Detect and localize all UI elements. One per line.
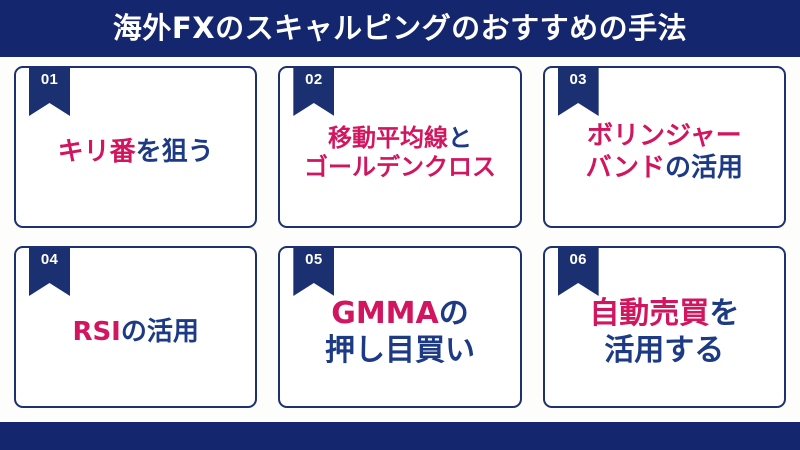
label-suffix: 活用する (604, 333, 724, 368)
label-suffix: の活用 (665, 153, 743, 183)
label-keyword: 移動平均線 (328, 124, 448, 152)
card-grid: 01キリ番を狙う02移動平均線とゴールデンクロス03ボリンジャーバンドの活用04… (14, 66, 786, 409)
card-number: 05 (305, 252, 322, 267)
card-label-line: GMMAの (325, 296, 475, 333)
ribbon-banner-icon: 06 (558, 246, 599, 296)
card-label: 移動平均線とゴールデンクロス (294, 124, 506, 183)
card-number: 01 (41, 72, 58, 87)
card-label: ボリンジャーバンドの活用 (576, 121, 753, 184)
label-suffix: を狙う (136, 137, 214, 167)
method-card[interactable]: 03ボリンジャーバンドの活用 (543, 66, 786, 228)
card-label-line: 押し目買い (325, 333, 475, 370)
card-number: 06 (570, 252, 587, 267)
card-label-line: RSIの活用 (72, 317, 198, 349)
ribbon-banner-icon: 05 (293, 246, 334, 296)
card-label-line: ボリンジャー (586, 121, 743, 153)
card-number: 04 (41, 252, 58, 267)
label-suffix: を (709, 296, 739, 331)
infographic-page: 海外FXのスキャルピングのおすすめの手法 01キリ番を狙う02移動平均線とゴール… (0, 0, 800, 450)
label-suffix: の (439, 296, 469, 331)
card-label: GMMAの押し目買い (315, 296, 485, 369)
label-keyword: ゴールデンクロス (304, 153, 496, 181)
card-number: 03 (570, 72, 587, 87)
card-label: キリ番を狙う (48, 137, 224, 169)
card-label-line: ゴールデンクロス (304, 153, 496, 182)
card-label-line: 移動平均線と (304, 124, 496, 153)
ribbon-banner-icon: 03 (558, 66, 599, 116)
footer-bar (0, 422, 800, 450)
label-suffix: 押し目買い (325, 333, 475, 368)
method-card[interactable]: 01キリ番を狙う (14, 66, 257, 228)
ribbon-banner-icon: 01 (29, 66, 70, 116)
method-card[interactable]: 05GMMAの押し目買い (278, 246, 521, 408)
label-keyword: GMMA (331, 296, 439, 331)
label-keyword: RSI (72, 317, 120, 347)
card-label-line: バンドの活用 (586, 153, 743, 185)
card-label-line: 自動売買を (589, 296, 739, 333)
label-keyword: バンド (586, 153, 665, 183)
label-keyword: 自動売買 (589, 296, 709, 331)
label-keyword: ボリンジャー (587, 121, 742, 151)
method-card[interactable]: 04RSIの活用 (14, 246, 257, 408)
page-title: 海外FXのスキャルピングのおすすめの手法 (113, 14, 687, 43)
card-number: 02 (305, 72, 322, 87)
label-suffix: と (448, 124, 472, 152)
label-keyword: キリ番 (58, 137, 136, 167)
ribbon-banner-icon: 04 (29, 246, 70, 296)
method-card[interactable]: 06自動売買を活用する (543, 246, 786, 408)
method-card[interactable]: 02移動平均線とゴールデンクロス (278, 66, 521, 228)
header-bar: 海外FXのスキャルピングのおすすめの手法 (0, 0, 800, 57)
card-label-line: キリ番を狙う (58, 137, 214, 169)
card-label: 自動売買を活用する (579, 296, 749, 369)
card-label-line: 活用する (589, 333, 739, 370)
label-suffix: の活用 (121, 317, 199, 347)
card-label: RSIの活用 (62, 317, 208, 349)
ribbon-banner-icon: 02 (293, 66, 334, 116)
